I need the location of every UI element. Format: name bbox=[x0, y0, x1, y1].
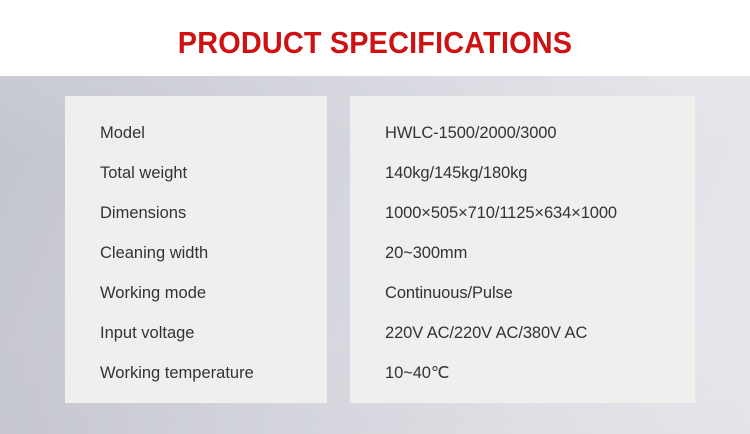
spec-value: 140kg/145kg/180kg bbox=[385, 153, 685, 193]
product-specifications-page: PRODUCT SPECIFICATIONS ModelTotal weight… bbox=[0, 0, 750, 434]
spec-label: Total weight bbox=[100, 153, 317, 193]
spec-value: 1000×505×710/1125×634×1000 bbox=[385, 193, 685, 233]
spec-value: 220V AC/220V AC/380V AC bbox=[385, 313, 685, 353]
spec-value: 20~300mm bbox=[385, 233, 685, 273]
spec-label: Dimensions bbox=[100, 193, 317, 233]
spec-label: Model bbox=[100, 113, 317, 153]
spec-value: 10~40℃ bbox=[385, 353, 685, 393]
spec-labels-list: ModelTotal weightDimensionsCleaning widt… bbox=[100, 113, 317, 393]
spec-values-list: HWLC-1500/2000/3000140kg/145kg/180kg1000… bbox=[385, 113, 685, 393]
spec-value: Continuous/Pulse bbox=[385, 273, 685, 313]
page-title: PRODUCT SPECIFICATIONS bbox=[26, 25, 724, 61]
header-band: PRODUCT SPECIFICATIONS bbox=[0, 0, 750, 76]
spec-label: Input voltage bbox=[100, 313, 317, 353]
spec-values-panel: HWLC-1500/2000/3000140kg/145kg/180kg1000… bbox=[350, 96, 695, 403]
spec-label: Working temperature bbox=[100, 353, 317, 393]
spec-label: Working mode bbox=[100, 273, 317, 313]
spec-label: Cleaning width bbox=[100, 233, 317, 273]
spec-labels-panel: ModelTotal weightDimensionsCleaning widt… bbox=[65, 96, 327, 403]
spec-value: HWLC-1500/2000/3000 bbox=[385, 113, 685, 153]
